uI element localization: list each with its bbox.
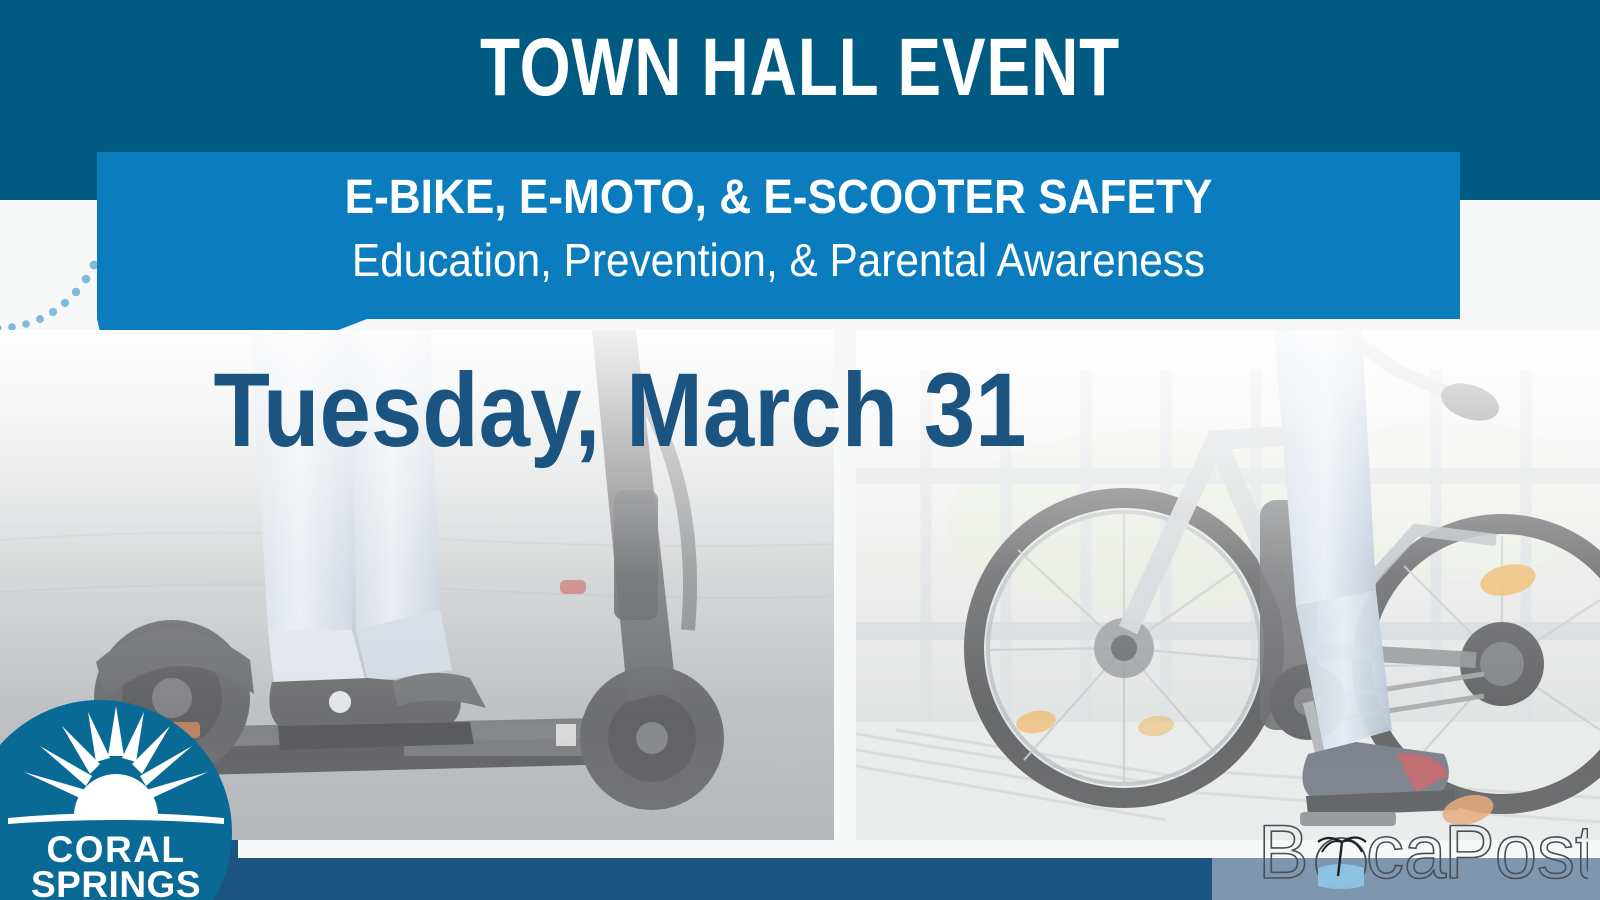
bocapost-text-post: Post [1444,810,1588,895]
coral-springs-mark-icon: CORAL SPRINGS [0,700,232,900]
bocapost-watermark: B ca Post [1258,806,1588,900]
bocapost-text-ca: ca [1366,810,1447,895]
banner-headline: E-BIKE, E-MOTO, & E-SCOOTER SAFETY [152,170,1406,226]
coral-springs-line2: SPRINGS [31,864,201,900]
event-flyer: TOWN HALL EVENT E-BIKE, E-MOTO, & E-SCOO… [0,0,1600,900]
coral-springs-logo: CORAL SPRINGS [0,700,232,900]
event-date: Tuesday, March 31 [74,352,1165,470]
banner-subheadline: Education, Prevention, & Parental Awaren… [152,232,1406,288]
page-title: TOWN HALL EVENT [160,18,1440,118]
palm-tree-beach-icon [1316,838,1366,890]
bocapost-text-b: B [1258,810,1309,895]
